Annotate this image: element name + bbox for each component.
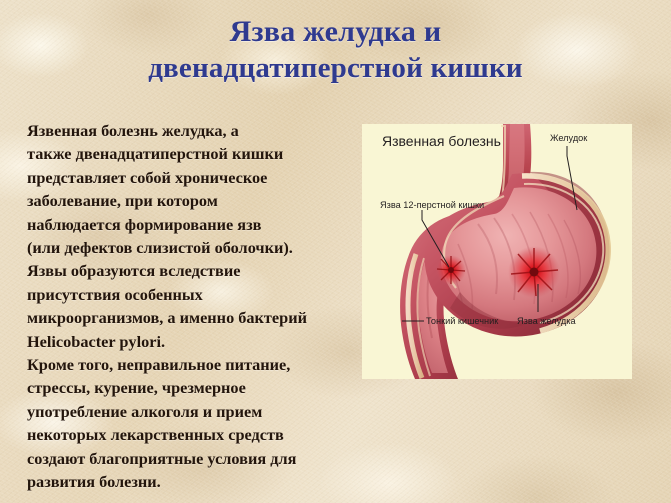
label-stomach: Желудок [550, 133, 587, 143]
body-line: развития болезни. [27, 470, 347, 493]
body-line: употребление алкоголя и прием [27, 400, 347, 423]
slide-body-text: Язвенная болезнь желудка, а также двенад… [27, 119, 347, 494]
body-line: Кроме того, неправильное питание, [27, 353, 347, 376]
presentation-slide: Язва желудка и двенадцатиперстной кишки … [0, 0, 671, 503]
slide-title: Язва желудка и двенадцатиперстной кишки [0, 14, 671, 86]
body-line: наблюдается формирование язв [27, 213, 347, 236]
slide-title-line-1: Язва желудка и [0, 14, 671, 50]
body-line: Язвенная болезнь желудка, а [27, 119, 347, 142]
duodenal-ulcer-marker [436, 255, 466, 285]
gastric-ulcer-marker [508, 246, 560, 298]
anatomy-illustration-panel: Язвенная болезнь Желудок Язва 12-перстно… [362, 124, 632, 379]
body-line: Язвы образуются вследствие [27, 259, 347, 282]
slide-title-line-2: двенадцатиперстной кишки [0, 50, 671, 86]
stomach-duodenum-anatomy-diagram [362, 124, 632, 379]
label-gastric-ulcer: Язва желудка [517, 316, 576, 326]
body-line: представляет собой хроническое [27, 166, 347, 189]
body-line: микроорганизмов, а именно бактерий [27, 306, 347, 329]
body-line: заболевание, при котором [27, 189, 347, 212]
body-line: Helicobacter pylori. [27, 330, 347, 353]
body-line: присутствия особенных [27, 283, 347, 306]
body-line: (или дефектов слизистой оболочки). [27, 236, 347, 259]
body-line: создают благоприятные условия для [27, 447, 347, 470]
body-line: также двенадцатиперстной кишки [27, 142, 347, 165]
illustration-heading: Язвенная болезнь [382, 133, 501, 149]
body-line: стрессы, курение, чрезмерное [27, 376, 347, 399]
body-line: некоторых лекарственных средств [27, 423, 347, 446]
label-small-intestine: Тонкий кишечник [426, 316, 498, 326]
label-duodenal-ulcer: Язва 12-перстной кишки [380, 200, 484, 210]
